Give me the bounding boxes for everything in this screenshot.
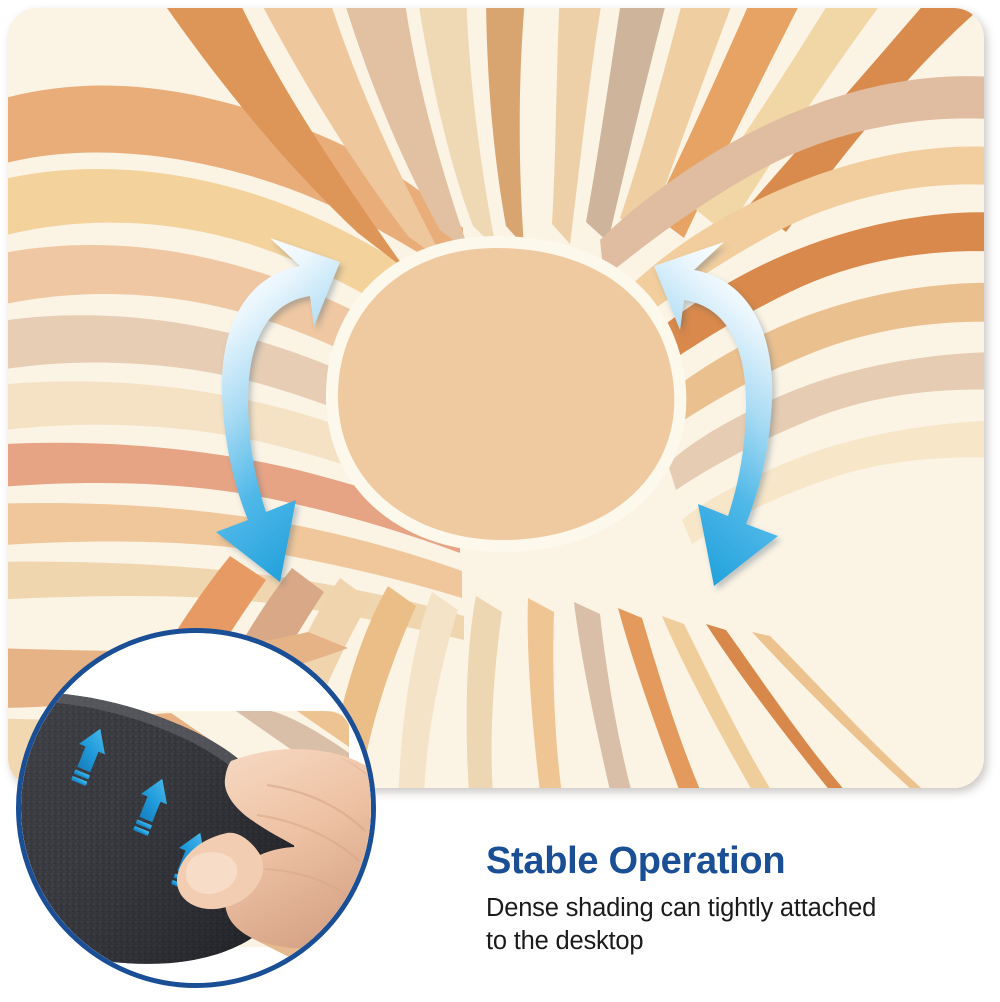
product-feature-graphic: Stable Operation Dense shading can tight…	[0, 0, 1000, 1002]
feature-description-line-2: to the desktop	[486, 927, 643, 955]
inset-photo	[21, 633, 371, 983]
feature-headline: Stable Operation	[486, 840, 956, 883]
feature-text-block: Stable Operation Dense shading can tight…	[486, 840, 956, 958]
feature-description: Dense shading can tightly attached to th…	[486, 892, 956, 958]
feature-description-line-1: Dense shading can tightly attached	[486, 894, 876, 922]
anti-slip-base-inset	[16, 628, 376, 988]
center-sun-circle	[326, 236, 686, 552]
